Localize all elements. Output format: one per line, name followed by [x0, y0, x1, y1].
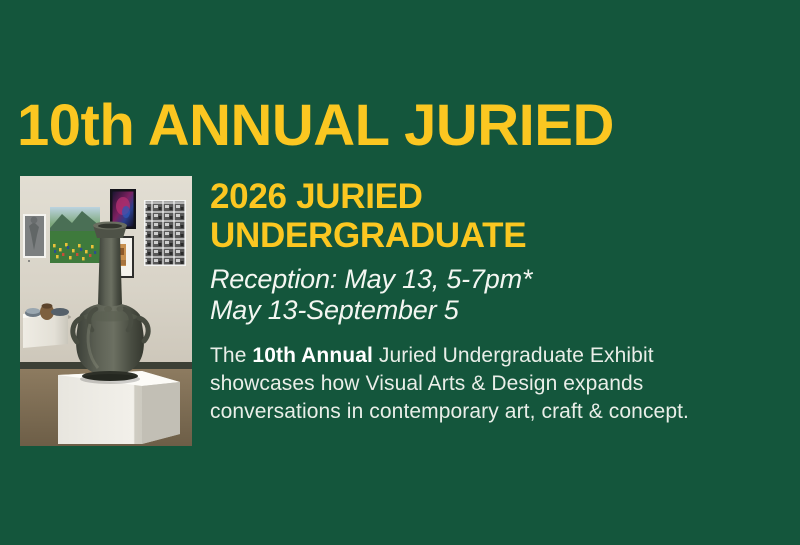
exhibit-details: 2026 JURIED UNDERGRADUATE Reception: May… — [210, 176, 788, 447]
reception-date: Reception: May 13, 5-7pm* — [210, 264, 788, 295]
gallery-photo: Gallery installation view: a large dark … — [20, 176, 192, 446]
description-intro: The — [210, 344, 252, 367]
gallery-photo-image — [20, 176, 192, 446]
exhibit-subtitle-level: UNDERGRADUATE — [210, 217, 788, 255]
exhibit-subtitle-year: 2026 JURIED — [210, 178, 788, 216]
exhibit-poster: 10th ANNUAL JURIED Gallery installation … — [0, 0, 800, 545]
exhibit-run-dates: May 13-September 5 — [210, 295, 788, 326]
page-title: 10th ANNUAL JURIED — [17, 96, 614, 156]
description-emphasis: 10th Annual — [252, 344, 373, 367]
exhibit-description: The 10th Annual Juried Undergraduate Exh… — [210, 342, 730, 426]
